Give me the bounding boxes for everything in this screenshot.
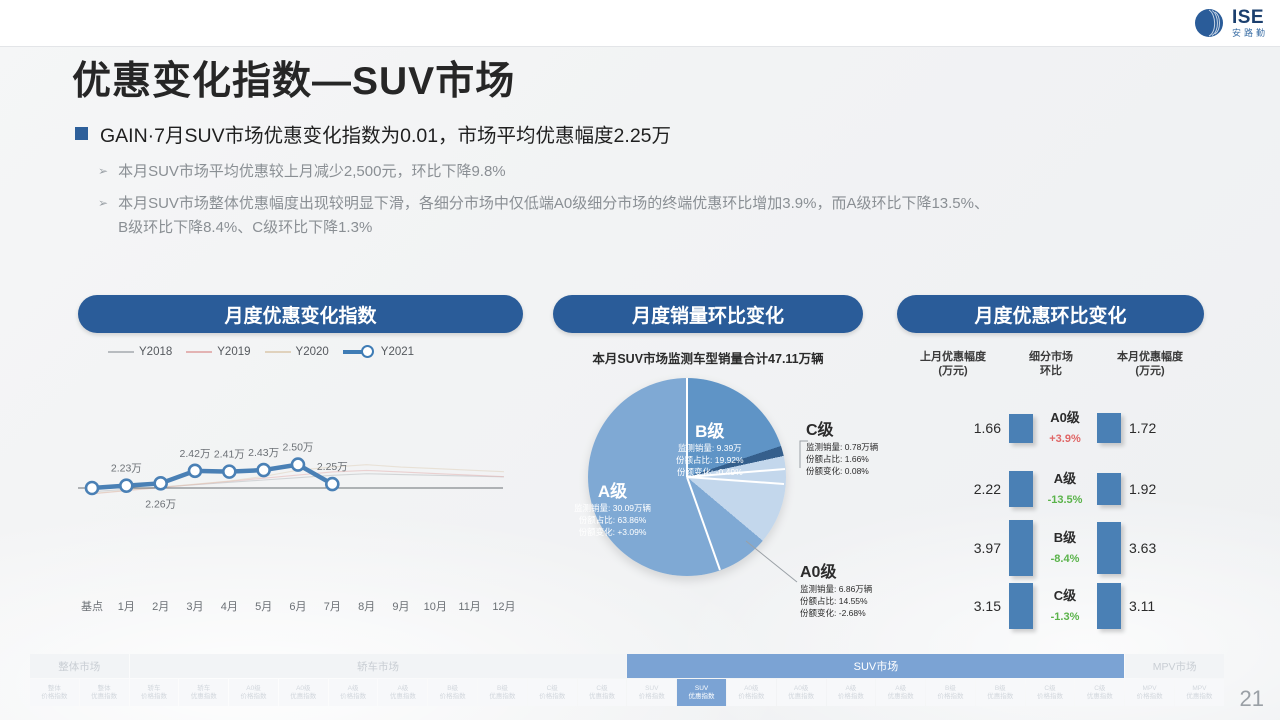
column-header-last-month: 上月优惠幅度 (万元) [905, 350, 1001, 378]
this-month-value: 3.63 [1129, 540, 1171, 556]
legend-item-y2019: Y2019 [186, 346, 250, 358]
change-percent: +3.9% [1049, 433, 1081, 445]
nav-tab-4[interactable]: A0级价格指数 [229, 679, 278, 706]
change-percent: -8.4% [1051, 553, 1080, 565]
line-chart-plot: 2.23万2.26万2.42万2.41万2.43万2.50万2.25万 [78, 420, 538, 600]
headline: GAIN·7月SUV市场优惠变化指数为0.01，市场平均优惠幅度2.25万 [75, 119, 671, 148]
pie-label-a-sales: 监测销量: 30.09万辆 [574, 503, 651, 515]
nav-tab-line2: 价格指数 [241, 693, 267, 701]
last-month-bar [1009, 471, 1033, 507]
logo-brand-cn: 安路勤 [1232, 29, 1268, 38]
nav-tab-line2: 价格指数 [838, 693, 864, 701]
x-axis-tick: 7月 [316, 598, 348, 614]
nav-tab-line2: 优惠指数 [689, 693, 715, 701]
arrow-icon: ➢ [98, 160, 108, 182]
nav-tab-line2: 价格指数 [440, 693, 466, 701]
nav-tab-7[interactable]: A级优惠指数 [378, 679, 427, 706]
legend-item-y2021: Y2021 [343, 345, 414, 358]
nav-tab-line2: 价格指数 [1037, 693, 1063, 701]
nav-tab-line2: 优惠指数 [191, 693, 217, 701]
nav-tab-line1: B级 [447, 685, 458, 693]
nav-tab-13[interactable]: SUV优惠指数 [677, 679, 726, 706]
this-month-value: 3.11 [1129, 598, 1171, 614]
segment-change: A级-13.5% [1033, 469, 1097, 509]
this-month-value: 1.92 [1129, 481, 1171, 497]
nav-tab-line1: A0级 [246, 685, 260, 693]
nav-tab-line1: A级 [895, 685, 906, 693]
nav-group-row: 整体市场轿车市场SUV市场MPV市场 [30, 654, 1225, 678]
nav-tab-line1: 轿车 [147, 685, 160, 693]
nav-tab-line1: SUV [695, 685, 708, 693]
x-axis-tick: 5月 [248, 598, 280, 614]
pie-label-b-change: 份额变化: -0.49% [676, 467, 744, 479]
segment-name: A0级 [1050, 410, 1080, 425]
pie-label-a-name: A级 [574, 480, 651, 503]
last-month-bar [1009, 520, 1033, 576]
svg-text:2.42万: 2.42万 [180, 448, 211, 460]
legend-marker [361, 345, 374, 358]
nav-tab-15[interactable]: A0级优惠指数 [777, 679, 826, 706]
x-axis-tick: 1月 [110, 598, 142, 614]
legend-swatch [108, 351, 134, 353]
column-header-this-month: 本月优惠幅度 (万元) [1100, 350, 1200, 378]
nav-tab-2[interactable]: 轿车价格指数 [130, 679, 179, 706]
last-month-value: 2.22 [959, 481, 1001, 497]
logo: ISE 安路勤 [1192, 6, 1268, 40]
arrow-icon: ➢ [98, 192, 108, 214]
nav-tab-line1: A级 [397, 685, 408, 693]
logo-text: ISE 安路勤 [1232, 8, 1268, 38]
pie-label-c-change: 份额变化: 0.08% [806, 466, 878, 478]
this-month-value: 1.72 [1129, 420, 1171, 436]
nav-group-MPV市场[interactable]: MPV市场 [1125, 654, 1224, 678]
legend-swatch [186, 351, 212, 353]
legend-label: Y2020 [296, 346, 329, 358]
nav-tab-line1: 整体 [48, 685, 61, 693]
nav-tab-line1: A级 [845, 685, 856, 693]
legend-label: Y2021 [381, 346, 414, 358]
segment-change: C级-1.3% [1033, 586, 1097, 626]
panel-title-comparison: 月度优惠环比变化 [897, 295, 1204, 333]
nav-tab-line1: C级 [1094, 685, 1105, 693]
pie-label-b-name: B级 [676, 420, 744, 443]
nav-tab-17[interactable]: A级优惠指数 [876, 679, 925, 706]
segment-name: B级 [1054, 530, 1076, 545]
page-title: 优惠变化指数—SUV市场 [72, 50, 515, 106]
line-chart-x-axis: 基点1月2月3月4月5月6月7月8月9月10月11月12月 [78, 598, 538, 618]
legend-label: Y2019 [217, 346, 250, 358]
nav-tab-11[interactable]: C级优惠指数 [578, 679, 627, 706]
nav-tab-line2: 优惠指数 [589, 693, 615, 701]
nav-tab-0[interactable]: 整体价格指数 [30, 679, 79, 706]
nav-tab-line1: A0级 [296, 685, 310, 693]
top-bar: ISE 安路勤 [0, 0, 1280, 46]
nav-tab-20[interactable]: C级价格指数 [1026, 679, 1075, 706]
legend-item-y2020: Y2020 [265, 346, 329, 358]
nav-tab-14[interactable]: A0级价格指数 [727, 679, 776, 706]
nav-tab-line2: 价格指数 [937, 693, 963, 701]
nav-tab-9[interactable]: B级优惠指数 [478, 679, 527, 706]
pie-label-c-sales: 监测销量: 0.78万辆 [806, 442, 878, 454]
this-month-bar [1097, 413, 1121, 443]
x-axis-tick: 3月 [179, 598, 211, 614]
nav-tab-10[interactable]: C级价格指数 [528, 679, 577, 706]
pie-label-b-share: 份额占比: 19.92% [676, 455, 744, 467]
pie-label-a0-name: A0级 [800, 562, 872, 584]
nav-tab-line1: 整体 [98, 685, 111, 693]
nav-tab-line1: A0级 [794, 685, 808, 693]
globe-icon [1192, 6, 1226, 40]
nav-tab-line2: 价格指数 [1137, 693, 1163, 701]
logo-brand: ISE [1232, 8, 1268, 27]
pie-label-b: B级 监测销量: 9.39万 份额占比: 19.92% 份额变化: -0.49% [676, 420, 744, 479]
page-number: 21 [1240, 686, 1264, 712]
last-month-bar [1009, 414, 1033, 443]
sub-bullet-2: ➢ 本月SUV市场整体优惠幅度出现较明显下滑，各细分市场中仅低端A0级细分市场的… [98, 192, 1218, 240]
x-axis-tick: 8月 [351, 598, 383, 614]
nav-tab-line2: 优惠指数 [390, 693, 416, 701]
nav-tab-23[interactable]: MPV优惠指数 [1175, 679, 1224, 706]
pie-label-a-change: 份额变化: +3.09% [574, 527, 651, 539]
pie-subtitle: 本月SUV市场监测车型销量合计47.11万辆 [553, 348, 863, 367]
nav-tab-row: 整体价格指数整体优惠指数轿车价格指数轿车优惠指数A0级价格指数A0级优惠指数A级… [30, 679, 1225, 706]
nav-tab-line2: 优惠指数 [1087, 693, 1113, 701]
svg-text:2.43万: 2.43万 [248, 447, 279, 459]
nav-tab-19[interactable]: B级优惠指数 [976, 679, 1025, 706]
segment-name: C级 [1054, 588, 1076, 603]
svg-text:2.41万: 2.41万 [214, 449, 245, 461]
comparison-row: 3.15C级-1.3%3.11 [930, 574, 1200, 638]
nav-tab-line1: MPV [1192, 685, 1206, 693]
pie-label-a0-share: 份额占比: 14.55% [800, 596, 872, 608]
nav-tab-8[interactable]: B级价格指数 [428, 679, 477, 706]
nav-tab-line1: B级 [945, 685, 956, 693]
legend-label: Y2018 [139, 346, 172, 358]
nav-tab-line2: 优惠指数 [987, 693, 1013, 701]
nav-group-SUV市场[interactable]: SUV市场 [627, 654, 1124, 678]
nav-tab-line1: C级 [1044, 685, 1055, 693]
pie-label-a: A级 监测销量: 30.09万辆 份额占比: 63.86% 份额变化: +3.0… [574, 480, 651, 539]
nav-tab-line2: 价格指数 [738, 693, 764, 701]
nav-tab-line1: C级 [596, 685, 607, 693]
nav-tab-line2: 优惠指数 [1186, 693, 1212, 701]
x-axis-tick: 9月 [385, 598, 417, 614]
last-month-value: 1.66 [959, 420, 1001, 436]
nav-tab-18[interactable]: B级价格指数 [926, 679, 975, 706]
x-axis-tick: 10月 [419, 598, 451, 614]
nav-tab-21[interactable]: C级优惠指数 [1075, 679, 1124, 706]
nav-tab-6[interactable]: A级价格指数 [329, 679, 378, 706]
svg-text:2.23万: 2.23万 [111, 463, 142, 475]
nav-tab-line1: A0级 [744, 685, 758, 693]
bullet-square-icon [75, 127, 88, 140]
pie-label-a-share: 份额占比: 63.86% [574, 515, 651, 527]
svg-text:2.26万: 2.26万 [145, 498, 176, 510]
legend-swatch [265, 351, 291, 353]
nav-tab-line1: 轿车 [197, 685, 210, 693]
last-month-value: 3.15 [959, 598, 1001, 614]
x-axis-tick: 12月 [488, 598, 520, 614]
pie-label-c-share: 份额占比: 1.66% [806, 454, 878, 466]
headline-text: GAIN·7月SUV市场优惠变化指数为0.01，市场平均优惠幅度2.25万 [100, 119, 671, 148]
svg-text:2.50万: 2.50万 [283, 442, 314, 454]
nav-group-轿车市场[interactable]: 轿车市场 [130, 654, 627, 678]
change-percent: -1.3% [1051, 611, 1080, 623]
x-axis-tick: 基点 [76, 598, 108, 614]
change-percent: -13.5% [1048, 494, 1083, 506]
pie-label-a0-change: 份额变化: -2.68% [800, 608, 872, 620]
nav-tab-line1: B级 [497, 685, 508, 693]
nav-tab-line1: C级 [547, 685, 558, 693]
sub-bullet-1-text: 本月SUV市场平均优惠较上月减少2,500元，环比下降9.8% [118, 160, 506, 184]
nav-tab-22[interactable]: MPV价格指数 [1125, 679, 1174, 706]
nav-tab-line2: 价格指数 [141, 693, 167, 701]
segment-change: A0级+3.9% [1033, 408, 1097, 448]
nav-tab-line2: 优惠指数 [91, 693, 117, 701]
pie-label-c: C级 监测销量: 0.78万辆 份额占比: 1.66% 份额变化: 0.08% [806, 420, 878, 477]
pie-label-b-sales: 监测销量: 9.39万 [676, 443, 744, 455]
comparison-row: 2.22A级-13.5%1.92 [930, 457, 1200, 521]
pie-leader-line-a0 [745, 540, 805, 585]
this-month-bar [1097, 583, 1121, 629]
nav-tab-1[interactable]: 整体优惠指数 [80, 679, 129, 706]
segment-name: A级 [1054, 471, 1076, 486]
column-header-segment-mom: 细分市场 环比 [1005, 350, 1097, 378]
nav-tab-line1: A级 [348, 685, 359, 693]
this-month-bar [1097, 522, 1121, 574]
comparison-row: 3.97B级-8.4%3.63 [930, 516, 1200, 580]
nav-tab-3[interactable]: 轿车优惠指数 [179, 679, 228, 706]
nav-tab-line2: 优惠指数 [489, 693, 515, 701]
comparison-row: 1.66A0级+3.9%1.72 [930, 396, 1200, 460]
line-chart-legend: Y2018 Y2019 Y2020 Y2021 [108, 345, 414, 358]
this-month-bar [1097, 473, 1121, 505]
x-axis-tick: 2月 [145, 598, 177, 614]
nav-tab-5[interactable]: A0级优惠指数 [279, 679, 328, 706]
segment-change: B级-8.4% [1033, 528, 1097, 568]
nav-tab-line2: 价格指数 [639, 693, 665, 701]
sub-bullet-1: ➢ 本月SUV市场平均优惠较上月减少2,500元，环比下降9.8% [98, 160, 1198, 184]
nav-tab-line2: 优惠指数 [888, 693, 914, 701]
sub-bullet-2-text: 本月SUV市场整体优惠幅度出现较明显下滑，各细分市场中仅低端A0级细分市场的终端… [118, 192, 989, 240]
nav-tab-line1: B级 [995, 685, 1006, 693]
x-axis-tick: 4月 [213, 598, 245, 614]
nav-tab-12[interactable]: SUV价格指数 [627, 679, 676, 706]
nav-tab-line2: 价格指数 [539, 693, 565, 701]
nav-tab-line2: 价格指数 [340, 693, 366, 701]
svg-text:2.25万: 2.25万 [317, 461, 348, 473]
nav-tab-line2: 优惠指数 [788, 693, 814, 701]
nav-group-整体市场[interactable]: 整体市场 [30, 654, 129, 678]
x-axis-tick: 11月 [454, 598, 486, 614]
nav-tab-line2: 价格指数 [41, 693, 67, 701]
x-axis-tick: 6月 [282, 598, 314, 614]
legend-item-y2018: Y2018 [108, 346, 172, 358]
panel-title-pie-chart: 月度销量环比变化 [553, 295, 863, 333]
last-month-value: 3.97 [959, 540, 1001, 556]
pie-label-a0-sales: 监测销量: 6.86万辆 [800, 584, 872, 596]
nav-tab-line1: SUV [645, 685, 658, 693]
bottom-nav: 整体市场轿车市场SUV市场MPV市场 整体价格指数整体优惠指数轿车价格指数轿车优… [30, 654, 1225, 706]
pie-label-c-name: C级 [806, 420, 878, 442]
nav-tab-line1: MPV [1143, 685, 1157, 693]
last-month-bar [1009, 583, 1033, 629]
nav-tab-line2: 优惠指数 [290, 693, 316, 701]
panel-title-line-chart: 月度优惠变化指数 [78, 295, 523, 333]
pie-label-a0: A0级 监测销量: 6.86万辆 份额占比: 14.55% 份额变化: -2.6… [800, 562, 872, 619]
nav-tab-16[interactable]: A级价格指数 [827, 679, 876, 706]
